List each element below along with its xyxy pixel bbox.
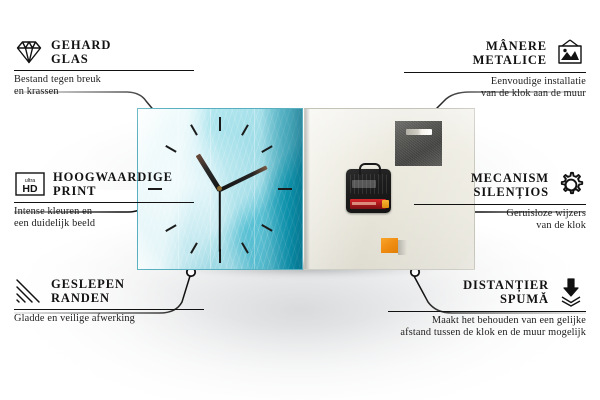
callout-title-line2: METALICE — [473, 53, 547, 67]
callout-rule — [404, 72, 586, 73]
callout-title-line2: SILENȚIOS — [471, 185, 549, 199]
callout-rule — [14, 70, 194, 71]
callout-rule — [14, 202, 194, 203]
callout-desc-line1: Bestand tegen breuk — [14, 74, 194, 86]
callout-desc-line2: afstand tussen de klok en de muur mogeli… — [388, 327, 586, 339]
callout-title-line1: MECANISM — [471, 171, 549, 185]
callout-title-line2: PRINT — [53, 184, 173, 198]
bevel-lines-icon — [14, 277, 44, 305]
callout-desc-line1: Intense kleuren en — [14, 206, 194, 218]
callout-metal-handles: MÂNERE METALICE Eenvoudige installatie v… — [404, 38, 586, 101]
callout-tempered-glass: GEHARD GLAS Bestand tegen breuk en krass… — [14, 38, 194, 99]
ultra-hd-icon-main-text: HD — [22, 183, 38, 195]
callout-desc-line2: en krassen — [14, 86, 194, 98]
callout-rule — [388, 311, 586, 312]
callout-title-line1: GEHARD — [51, 38, 111, 52]
callout-title-line1: MÂNERE — [473, 39, 547, 53]
hanging-frame-icon — [554, 38, 586, 68]
callout-desc-line2: een duidelijk beeld — [14, 218, 194, 230]
callout-title-line2: RANDEN — [51, 291, 125, 305]
callout-rule — [14, 309, 204, 310]
callout-title-line1: GESLEPEN — [51, 277, 125, 291]
callout-desc-line1: Gladde en veilige afwerking — [14, 313, 204, 325]
callout-silent-mechanism: MECANISM SILENȚIOS Geruisloze wijzers va… — [414, 170, 586, 233]
callout-desc-line1: Eenvoudige installatie — [404, 76, 586, 88]
ultra-hd-icon: ultra HD — [14, 170, 46, 198]
callout-ground-edges: GESLEPEN RANDEN Gladde en veilige afwerk… — [14, 277, 204, 325]
callout-title-line2: GLAS — [51, 52, 111, 66]
press-down-icon — [556, 277, 586, 307]
infographic-stage: GEHARD GLAS Bestand tegen breuk en krass… — [0, 0, 600, 400]
callout-foam-spacer: DISTANȚIER SPUMĂ Maakt het behouden van … — [388, 277, 586, 340]
callout-desc-line1: Geruisloze wijzers — [414, 208, 586, 220]
callout-desc-line1: Maakt het behouden van een gelijke — [388, 315, 586, 327]
diamond-icon — [14, 38, 44, 66]
gear-icon — [556, 170, 586, 200]
callout-desc-line2: van de klok aan de muur — [404, 88, 586, 100]
callout-hd-print: ultra HD HOOGWAARDIGE PRINT Intense kleu… — [14, 170, 194, 231]
callout-rule — [414, 204, 586, 205]
callout-title-line1: HOOGWAARDIGE — [53, 170, 173, 184]
callout-desc-line2: van de klok — [414, 220, 586, 232]
callout-title-line2: SPUMĂ — [463, 292, 549, 306]
callout-title-line1: DISTANȚIER — [463, 278, 549, 292]
